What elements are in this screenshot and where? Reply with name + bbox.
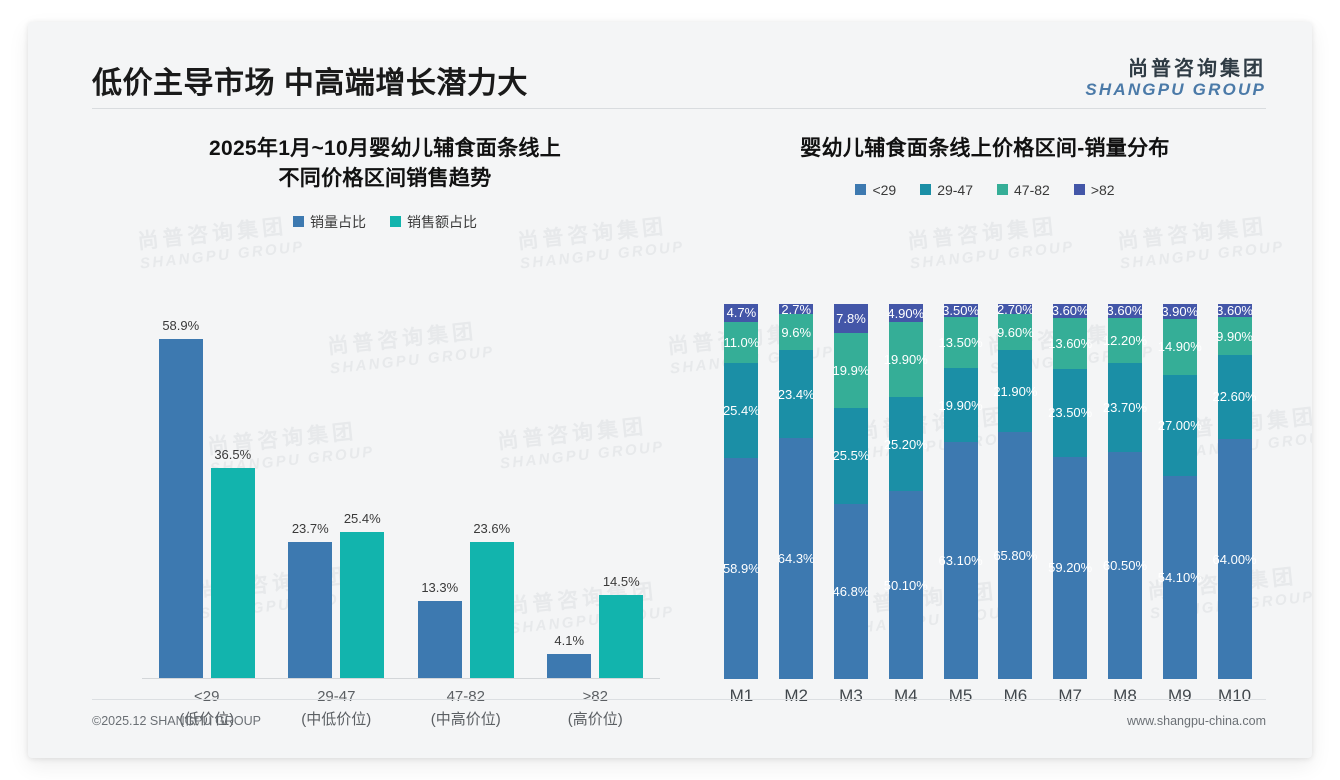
stacked-segment-value-label: 9.6% bbox=[781, 325, 811, 340]
left-chart-title-line2: 不同价格区间销售趋势 bbox=[90, 164, 680, 194]
stacked-bar-segment[interactable]: 19.90% bbox=[889, 322, 923, 397]
footer-divider bbox=[92, 699, 1266, 700]
stacked-segment-value-label: 3.90% bbox=[1161, 304, 1198, 319]
stacked-segment-value-label: 19.90% bbox=[939, 398, 983, 413]
stacked-segment-value-label: 19.90% bbox=[884, 352, 928, 367]
stacked-segment-value-label: 19.9% bbox=[833, 363, 870, 378]
left-legend-item[interactable]: 销量占比 bbox=[293, 212, 366, 232]
right-chart-panel: 婴幼儿辅食面条线上价格区间-销量分布 <2929-4747-82>82 4.7%… bbox=[700, 134, 1270, 714]
stacked-bar-segment[interactable]: 65.80% bbox=[998, 432, 1032, 679]
logo-english-text: SHANGPU GROUP bbox=[1085, 80, 1266, 99]
stacked-segment-value-label: 3.60% bbox=[1216, 303, 1253, 318]
left-legend-item[interactable]: 销售额占比 bbox=[390, 212, 477, 232]
bar-value-label: 58.9% bbox=[162, 318, 199, 333]
legend-label: <29 bbox=[872, 182, 896, 198]
stacked-segment-value-label: 4.90% bbox=[887, 306, 924, 321]
stacked-segment-value-label: 9.60% bbox=[997, 325, 1034, 340]
stacked-bar-column[interactable]: 3.60%9.90%22.60%64.00% bbox=[1207, 304, 1262, 679]
stacked-bar-segment[interactable]: 59.20% bbox=[1053, 457, 1087, 679]
bar-column[interactable]: 13.3% bbox=[418, 304, 462, 678]
stacked-segment-value-label: 25.5% bbox=[833, 448, 870, 463]
stacked-segment-value-label: 54.10% bbox=[1158, 570, 1202, 585]
x-axis-tick-label: M7 bbox=[1043, 686, 1098, 706]
stacked-segment-value-label: 7.8% bbox=[836, 311, 866, 326]
logo-chinese-text: 尚普咨询集团 bbox=[1085, 58, 1266, 80]
x-axis-tick-label: M3 bbox=[824, 686, 879, 706]
bar-value-label: 23.7% bbox=[292, 521, 329, 536]
bar-rect[interactable] bbox=[159, 339, 203, 678]
stacked-bar-segment[interactable]: 4.90% bbox=[889, 304, 923, 322]
legend-label: 销量占比 bbox=[310, 212, 366, 232]
x-axis-tick-label: M5 bbox=[933, 686, 988, 706]
stacked-bar: 3.60%12.20%23.70%60.50% bbox=[1108, 304, 1142, 679]
footer-copyright: ©2025.12 SHANGPU GROUP bbox=[92, 714, 261, 728]
stacked-segment-value-label: 58.9% bbox=[723, 561, 760, 576]
stacked-bar-segment[interactable]: 25.4% bbox=[724, 363, 758, 458]
stacked-bar-segment[interactable]: 11.0% bbox=[724, 322, 758, 363]
stacked-bar-segment[interactable]: 23.50% bbox=[1053, 369, 1087, 457]
stacked-bar-segment[interactable]: 19.90% bbox=[944, 368, 978, 443]
stacked-bar-segment[interactable]: 9.6% bbox=[779, 314, 813, 350]
stacked-segment-value-label: 23.4% bbox=[778, 387, 815, 402]
stacked-bar-segment[interactable]: 9.60% bbox=[998, 314, 1032, 350]
right-legend-item[interactable]: 47-82 bbox=[997, 182, 1050, 198]
stacked-bar-segment[interactable]: 2.7% bbox=[779, 304, 813, 314]
left-chart-legend: 销量占比销售额占比 bbox=[90, 212, 680, 232]
stacked-segment-value-label: 22.60% bbox=[1213, 389, 1257, 404]
stacked-bar: 2.7%9.6%23.4%64.3% bbox=[779, 304, 813, 679]
stacked-segment-value-label: 64.3% bbox=[778, 551, 815, 566]
left-chart-title-line1: 2025年1月~10月婴幼儿辅食面条线上 bbox=[90, 134, 680, 164]
slide-canvas: 低价主导市场 中高端增长潜力大 尚普咨询集团 SHANGPU GROUP 尚普咨… bbox=[28, 22, 1312, 758]
x-axis-tick-sublabel: (高价位) bbox=[531, 709, 661, 732]
x-axis-tick-sublabel: (中低价位) bbox=[272, 709, 402, 732]
stacked-segment-value-label: 4.7% bbox=[727, 305, 757, 320]
stacked-bar-segment[interactable]: 60.50% bbox=[1108, 452, 1142, 679]
stacked-bar-segment[interactable]: 3.60% bbox=[1108, 304, 1142, 318]
stacked-bar-segment[interactable]: 22.60% bbox=[1218, 355, 1252, 440]
stacked-bar-segment[interactable]: 23.4% bbox=[779, 350, 813, 438]
stacked-bar-segment[interactable]: 7.8% bbox=[834, 304, 868, 333]
bar-column[interactable]: 4.1% bbox=[547, 304, 591, 678]
stacked-segment-value-label: 13.60% bbox=[1048, 336, 1092, 351]
stacked-bar-column[interactable]: 4.90%19.90%25.20%50.10% bbox=[878, 304, 933, 679]
legend-swatch-icon bbox=[390, 216, 401, 227]
x-axis-tick-range: 47-82 bbox=[401, 686, 531, 709]
stacked-segment-value-label: 3.50% bbox=[942, 303, 979, 318]
x-axis-tick-label: M4 bbox=[878, 686, 933, 706]
right-chart-plot-area: 4.7%11.0%25.4%58.9%2.7%9.6%23.4%64.3%7.8… bbox=[714, 304, 1262, 679]
right-chart-x-labels: M1M2M3M4M5M6M7M8M9M10 bbox=[714, 686, 1262, 706]
bar-column[interactable]: 23.6% bbox=[470, 304, 514, 678]
stacked-bar-segment[interactable]: 54.10% bbox=[1163, 476, 1197, 679]
bar-column[interactable]: 14.5% bbox=[599, 304, 643, 678]
stacked-bar-segment[interactable]: 4.7% bbox=[724, 304, 758, 322]
legend-label: 47-82 bbox=[1014, 182, 1050, 198]
stacked-segment-value-label: 13.50% bbox=[939, 335, 983, 350]
stacked-bar: 3.60%13.60%23.50%59.20% bbox=[1053, 304, 1087, 679]
stacked-bar-segment[interactable]: 25.5% bbox=[834, 408, 868, 504]
x-axis-tick-label: M1 bbox=[714, 686, 769, 706]
bar-value-label: 25.4% bbox=[344, 511, 381, 526]
legend-label: 销售额占比 bbox=[407, 212, 477, 232]
bar-rect[interactable] bbox=[470, 542, 514, 678]
stacked-bar-segment[interactable]: 25.20% bbox=[889, 397, 923, 491]
stacked-segment-value-label: 3.60% bbox=[1107, 303, 1144, 318]
legend-label: 29-47 bbox=[937, 182, 973, 198]
left-chart-x-axis bbox=[142, 678, 660, 679]
stacked-bar-segment[interactable]: 14.90% bbox=[1163, 319, 1197, 375]
stacked-bar-segment[interactable]: 46.8% bbox=[834, 504, 868, 680]
stacked-bar-segment[interactable]: 27.00% bbox=[1163, 375, 1197, 476]
legend-label: >82 bbox=[1091, 182, 1115, 198]
stacked-segment-value-label: 9.90% bbox=[1216, 329, 1253, 344]
bar-group: 58.9%36.5% bbox=[142, 304, 272, 678]
legend-swatch-icon bbox=[293, 216, 304, 227]
stacked-segment-value-label: 23.70% bbox=[1103, 400, 1147, 415]
stacked-bar-segment[interactable]: 3.50% bbox=[944, 304, 978, 317]
x-axis-tick-label: M10 bbox=[1207, 686, 1262, 706]
bar-value-label: 36.5% bbox=[214, 447, 251, 462]
stacked-bar-column[interactable]: 4.7%11.0%25.4%58.9% bbox=[714, 304, 769, 679]
legend-swatch-icon bbox=[1074, 184, 1085, 195]
x-axis-tick-range: >82 bbox=[531, 686, 661, 709]
x-axis-tick-sublabel: (中高价位) bbox=[401, 709, 531, 732]
stacked-bar-segment[interactable]: 3.60% bbox=[1053, 304, 1087, 318]
bar-rect[interactable] bbox=[288, 542, 332, 678]
stacked-segment-value-label: 46.8% bbox=[833, 584, 870, 599]
x-axis-tick-label: M6 bbox=[988, 686, 1043, 706]
stacked-bar: 7.8%19.9%25.5%46.8% bbox=[834, 304, 868, 679]
left-chart-bar-groups: 58.9%36.5%23.7%25.4%13.3%23.6%4.1%14.5% bbox=[142, 304, 660, 678]
bar-group: 4.1%14.5% bbox=[531, 304, 661, 678]
bar-rect[interactable] bbox=[418, 601, 462, 678]
right-chart-title: 婴幼儿辅食面条线上价格区间-销量分布 bbox=[700, 134, 1270, 164]
legend-swatch-icon bbox=[997, 184, 1008, 195]
stacked-segment-value-label: 27.00% bbox=[1158, 418, 1202, 433]
stacked-bar-segment[interactable]: 2.70% bbox=[998, 304, 1032, 314]
x-axis-tick-range: <29 bbox=[142, 686, 272, 709]
x-axis-tick-label: >82(高价位) bbox=[531, 686, 661, 731]
stacked-segment-value-label: 25.20% bbox=[884, 437, 928, 452]
stacked-bar: 4.90%19.90%25.20%50.10% bbox=[889, 304, 923, 679]
stacked-segment-value-label: 64.00% bbox=[1213, 552, 1257, 567]
x-axis-tick-label: M8 bbox=[1098, 686, 1153, 706]
stacked-bar-segment[interactable]: 3.60% bbox=[1218, 304, 1252, 317]
stacked-segment-value-label: 63.10% bbox=[939, 553, 983, 568]
right-chart-legend: <2929-4747-82>82 bbox=[700, 182, 1270, 198]
legend-swatch-icon bbox=[920, 184, 931, 195]
footer-website[interactable]: www.shangpu-china.com bbox=[1127, 714, 1266, 728]
stacked-bar-column[interactable]: 3.90%14.90%27.00%54.10% bbox=[1152, 304, 1207, 679]
bar-rect[interactable] bbox=[340, 532, 384, 678]
stacked-segment-value-label: 23.50% bbox=[1048, 405, 1092, 420]
stacked-bar-segment[interactable]: 19.9% bbox=[834, 333, 868, 408]
bar-value-label: 23.6% bbox=[473, 521, 510, 536]
bar-column[interactable]: 36.5% bbox=[211, 304, 255, 678]
stacked-bar-segment[interactable]: 64.3% bbox=[779, 438, 813, 679]
stacked-bar-segment[interactable]: 64.00% bbox=[1218, 439, 1252, 679]
stacked-bar: 3.60%9.90%22.60%64.00% bbox=[1218, 304, 1252, 679]
bar-rect[interactable] bbox=[599, 595, 643, 678]
right-legend-item[interactable]: >82 bbox=[1074, 182, 1115, 198]
x-axis-tick-range: 29-47 bbox=[272, 686, 402, 709]
stacked-bar-column[interactable]: 2.7%9.6%23.4%64.3% bbox=[769, 304, 824, 679]
legend-swatch-icon bbox=[855, 184, 866, 195]
page-title: 低价主导市场 中高端增长潜力大 bbox=[92, 58, 528, 102]
stacked-bar-segment[interactable]: 9.90% bbox=[1218, 317, 1252, 354]
stacked-bar-segment[interactable]: 13.50% bbox=[944, 317, 978, 368]
stacked-bar-segment[interactable]: 23.70% bbox=[1108, 363, 1142, 452]
brand-logo: 尚普咨询集团 SHANGPU GROUP bbox=[1085, 58, 1266, 99]
bar-group: 13.3%23.6% bbox=[401, 304, 531, 678]
bar-column[interactable]: 23.7% bbox=[288, 304, 332, 678]
stacked-segment-value-label: 65.80% bbox=[993, 548, 1037, 563]
stacked-segment-value-label: 25.4% bbox=[723, 403, 760, 418]
stacked-bar-column[interactable]: 7.8%19.9%25.5%46.8% bbox=[824, 304, 879, 679]
stacked-bar-column[interactable]: 3.60%13.60%23.50%59.20% bbox=[1043, 304, 1098, 679]
stacked-segment-value-label: 14.90% bbox=[1158, 339, 1202, 354]
bar-column[interactable]: 58.9% bbox=[159, 304, 203, 678]
stacked-bar-column[interactable]: 3.50%13.50%19.90%63.10% bbox=[933, 304, 988, 679]
x-axis-tick-label: 47-82(中高价位) bbox=[401, 686, 531, 731]
stacked-segment-value-label: 50.10% bbox=[884, 578, 928, 593]
stacked-segment-value-label: 60.50% bbox=[1103, 558, 1147, 573]
stacked-bar-segment[interactable]: 3.90% bbox=[1163, 304, 1197, 319]
stacked-bar-segment[interactable]: 12.20% bbox=[1108, 318, 1142, 364]
x-axis-tick-label: M2 bbox=[769, 686, 824, 706]
stacked-bar: 3.50%13.50%19.90%63.10% bbox=[944, 304, 978, 679]
left-chart-title: 2025年1月~10月婴幼儿辅食面条线上 不同价格区间销售趋势 bbox=[90, 134, 680, 194]
header-divider bbox=[92, 108, 1266, 109]
stacked-bar: 3.90%14.90%27.00%54.10% bbox=[1163, 304, 1197, 679]
bar-value-label: 14.5% bbox=[603, 574, 640, 589]
stacked-segment-value-label: 11.0% bbox=[723, 335, 759, 350]
stacked-segment-value-label: 3.60% bbox=[1052, 303, 1089, 318]
stacked-bar-segment[interactable]: 63.10% bbox=[944, 442, 978, 679]
left-chart-plot-area: 58.9%36.5%23.7%25.4%13.3%23.6%4.1%14.5% bbox=[142, 304, 660, 679]
bar-value-label: 13.3% bbox=[421, 580, 458, 595]
left-chart-panel: 2025年1月~10月婴幼儿辅食面条线上 不同价格区间销售趋势 销量占比销售额占… bbox=[90, 134, 680, 714]
x-axis-tick-label: M9 bbox=[1152, 686, 1207, 706]
stacked-bar-segment[interactable]: 21.90% bbox=[998, 350, 1032, 432]
right-legend-item[interactable]: <29 bbox=[855, 182, 896, 198]
stacked-bar-column[interactable]: 2.70%9.60%21.90%65.80% bbox=[988, 304, 1043, 679]
stacked-bar: 4.7%11.0%25.4%58.9% bbox=[724, 304, 758, 679]
bar-group: 23.7%25.4% bbox=[272, 304, 402, 678]
stacked-bar-segment[interactable]: 50.10% bbox=[889, 491, 923, 679]
right-legend-item[interactable]: 29-47 bbox=[920, 182, 973, 198]
stacked-segment-value-label: 21.90% bbox=[993, 384, 1037, 399]
stacked-segment-value-label: 12.20% bbox=[1103, 333, 1147, 348]
bar-column[interactable]: 25.4% bbox=[340, 304, 384, 678]
stacked-bar-column[interactable]: 3.60%12.20%23.70%60.50% bbox=[1098, 304, 1153, 679]
slide-header: 低价主导市场 中高端增长潜力大 尚普咨询集团 SHANGPU GROUP bbox=[28, 22, 1312, 120]
bar-rect[interactable] bbox=[547, 654, 591, 678]
bar-rect[interactable] bbox=[211, 468, 255, 678]
stacked-segment-value-label: 59.20% bbox=[1048, 560, 1092, 575]
x-axis-tick-label: 29-47(中低价位) bbox=[272, 686, 402, 731]
bar-value-label: 4.1% bbox=[554, 633, 584, 648]
stacked-bar-segment[interactable]: 13.60% bbox=[1053, 318, 1087, 369]
stacked-bar: 2.70%9.60%21.90%65.80% bbox=[998, 304, 1032, 679]
stacked-bar-segment[interactable]: 58.9% bbox=[724, 458, 758, 679]
